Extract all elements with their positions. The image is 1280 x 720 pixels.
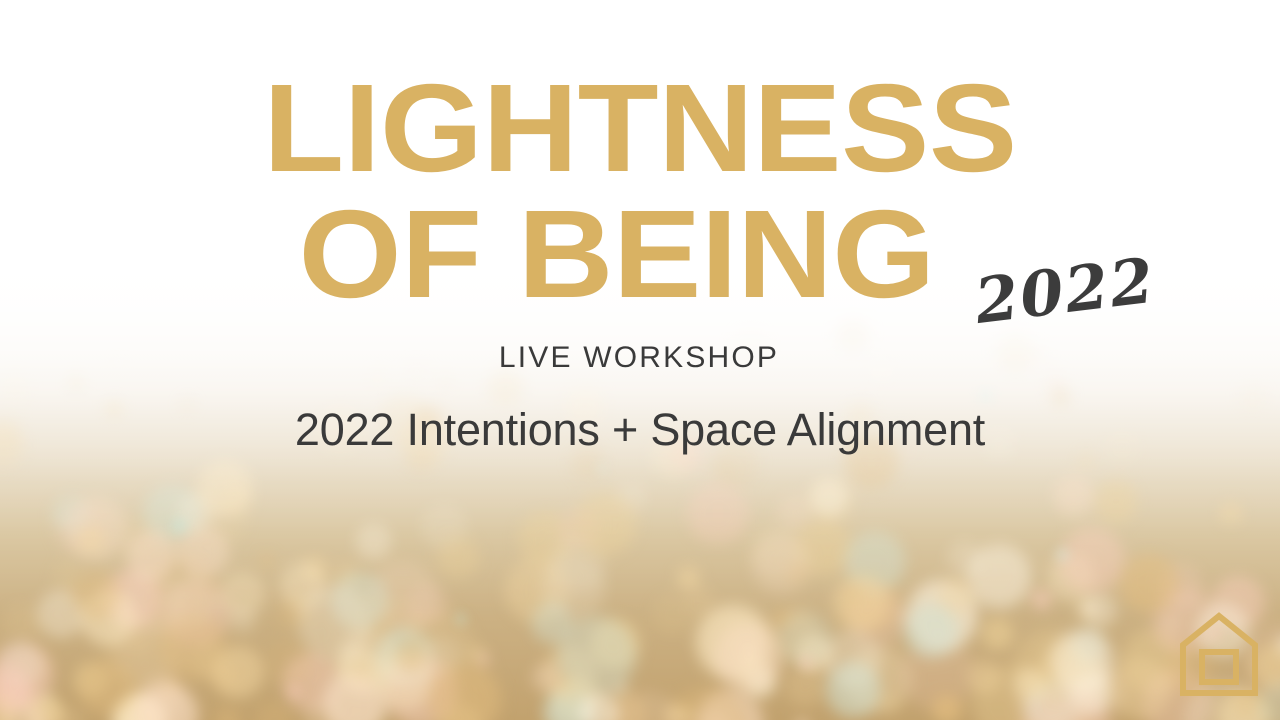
eyebrow-label: LIVE WORKSHOP: [0, 341, 1279, 375]
poster-content: LIGHTNESS OF BEING 2022 LIVE WORKSHOP 20…: [0, 0, 1280, 720]
page-title-line-1: LIGHTNESS: [0, 70, 1280, 188]
promo-poster: LIGHTNESS OF BEING 2022 LIVE WORKSHOP 20…: [0, 0, 1280, 720]
tagline: 2022 Intentions + Space Alignment: [0, 404, 1280, 456]
house-icon: [1178, 612, 1260, 698]
